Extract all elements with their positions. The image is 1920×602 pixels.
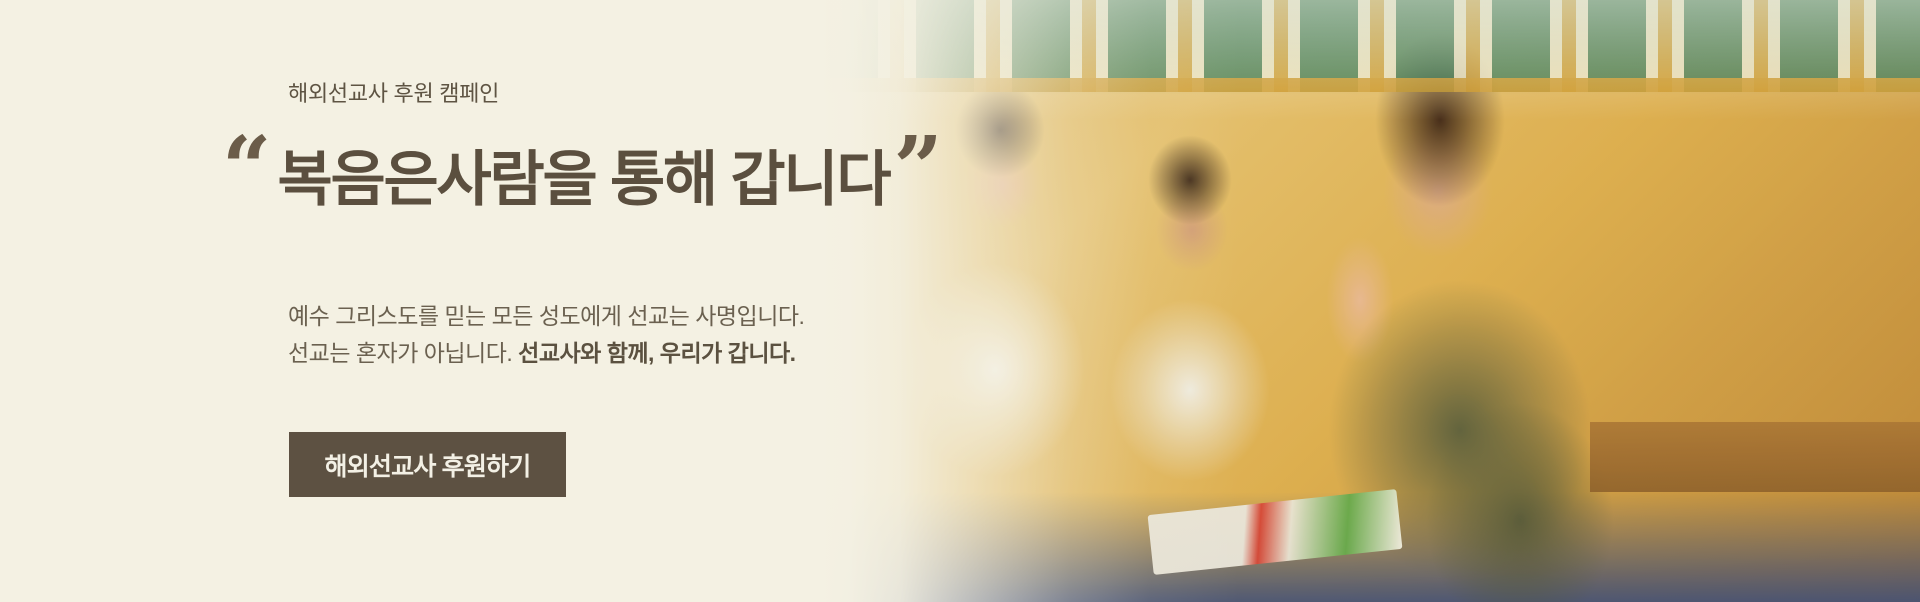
description-line-2-emphasis: 선교사와 함께, 우리가 갑니다. <box>518 340 795 366</box>
description-line-2: 선교는 혼자가 아닙니다. 선교사와 함께, 우리가 갑니다. <box>288 335 804 372</box>
description-line-2-normal: 선교는 혼자가 아닙니다. <box>288 340 518 366</box>
campaign-description: 예수 그리스도를 믿는 모든 성도에게 선교는 사명입니다. 선교는 혼자가 아… <box>288 298 804 373</box>
description-line-1: 예수 그리스도를 믿는 모든 성도에게 선교는 사명입니다. <box>288 298 804 335</box>
page-title: “ 복음은사람을 통해 갑니다 ” <box>222 128 943 199</box>
hero-content: 해외선교사 후원 캠페인 “ 복음은사람을 통해 갑니다 ” 예수 그리스도를 … <box>0 0 1000 602</box>
quote-open-icon: “ <box>222 134 271 205</box>
campaign-hero-banner: 해외선교사 후원 캠페인 “ 복음은사람을 통해 갑니다 ” 예수 그리스도를 … <box>0 0 1920 602</box>
campaign-eyebrow-label: 해외선교사 후원 캠페인 <box>288 76 499 108</box>
headline-text: 복음은사람을 통해 갑니다 <box>277 150 889 210</box>
sponsor-missionary-button[interactable]: 해외선교사 후원하기 <box>289 432 566 497</box>
quote-close-icon: ” <box>893 134 942 205</box>
